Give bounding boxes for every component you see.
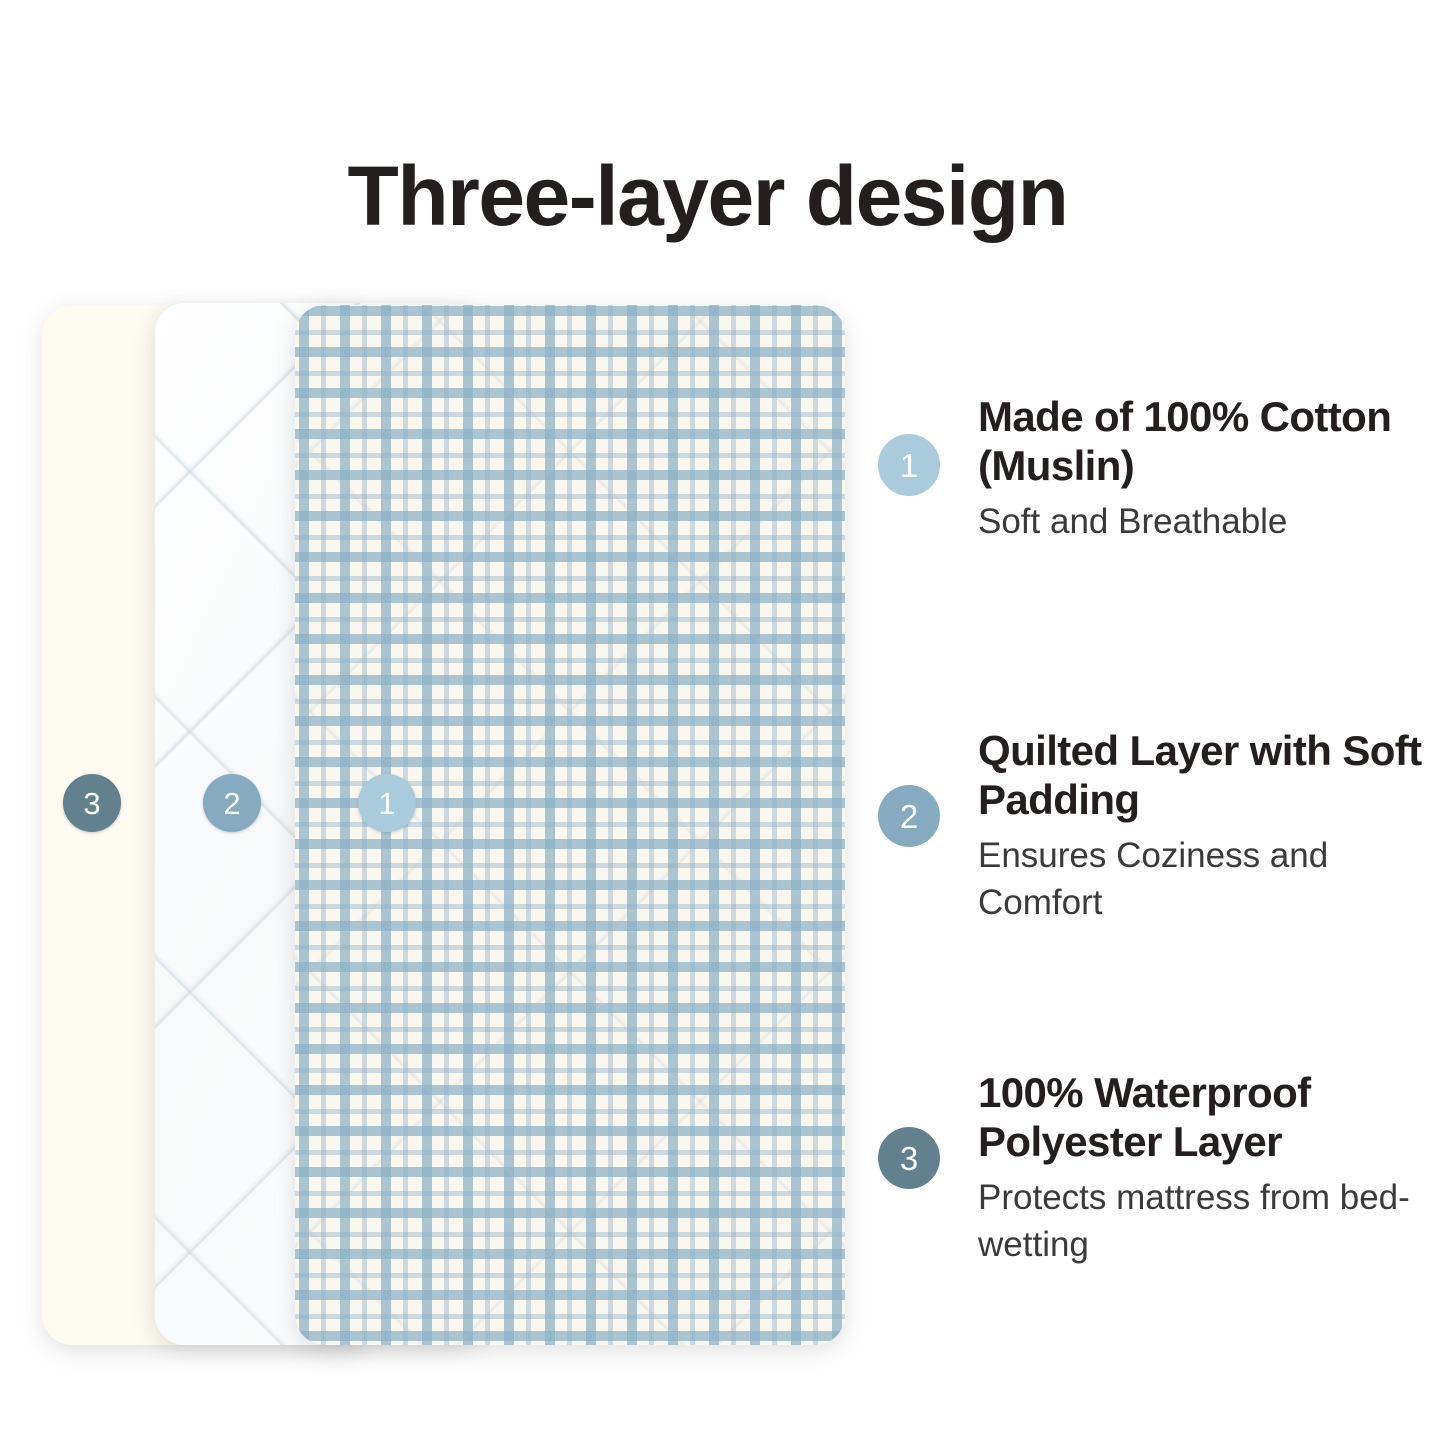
feature-list: 1 Made of 100% Cotton (Muslin) Soft and …	[876, 0, 1445, 1445]
layer-badge-2: 2	[203, 774, 261, 832]
feature-badge-2: 2	[878, 785, 940, 847]
feature-body: 100% Waterproof Polyester Layer Protects…	[978, 1068, 1445, 1268]
layer-stack-illustration: 3 2 1	[0, 0, 900, 1445]
infographic-page: Three-layer design 3 2 1 1 Made of 100% …	[0, 0, 1445, 1445]
feature-subtitle: Ensures Coziness and Comfort	[978, 832, 1445, 926]
feature-title: 100% Waterproof Polyester Layer	[978, 1068, 1445, 1166]
feature-body: Quilted Layer with Soft Padding Ensures …	[978, 726, 1445, 926]
layer-badge-3: 3	[63, 774, 121, 832]
feature-subtitle: Soft and Breathable	[978, 498, 1445, 545]
feature-badge-1: 1	[878, 434, 940, 496]
feature-item-cotton-muslin: 1 Made of 100% Cotton (Muslin) Soft and …	[876, 392, 1445, 545]
feature-item-quilted-padding: 2 Quilted Layer with Soft Padding Ensure…	[876, 726, 1445, 926]
feature-title: Quilted Layer with Soft Padding	[978, 726, 1445, 824]
feature-item-waterproof-polyester: 3 100% Waterproof Polyester Layer Protec…	[876, 1068, 1445, 1268]
layer-badge-1: 1	[358, 774, 416, 832]
feature-title: Made of 100% Cotton (Muslin)	[978, 392, 1445, 490]
feature-body: Made of 100% Cotton (Muslin) Soft and Br…	[978, 392, 1445, 545]
feature-badge-3: 3	[878, 1127, 940, 1189]
feature-subtitle: Protects mattress from bed-wetting	[978, 1174, 1445, 1268]
